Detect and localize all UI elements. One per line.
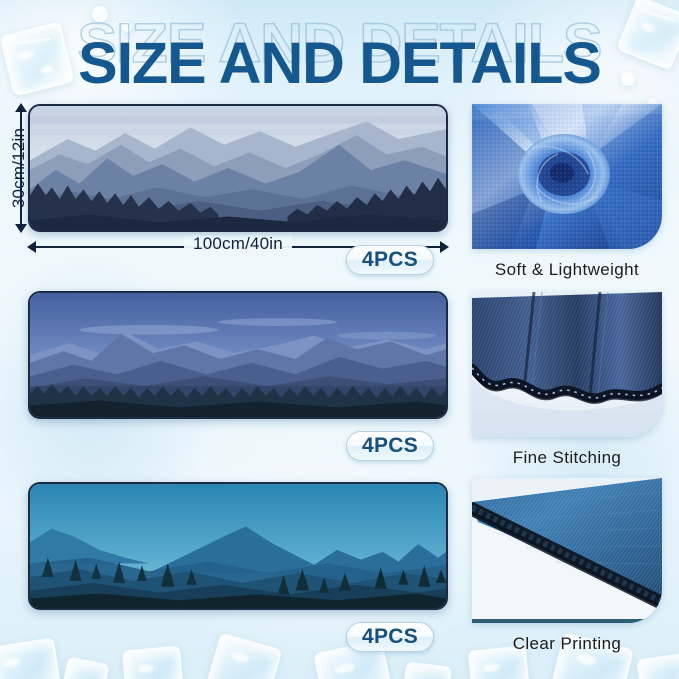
quantity-badge: 4PCS [346,622,434,652]
ice-cube-icon [0,637,62,679]
feature-clear-printing[interactable]: Clear Printing [472,478,662,654]
ice-cube-icon [61,656,110,679]
feature-soft-lightweight[interactable]: Soft & Lightweight [472,104,662,280]
quantity-badge: 4PCS [346,431,434,461]
quantity-badge-label: 4PCS [362,248,418,272]
ice-cube-icon [122,646,184,679]
size-and-details-poster: SIZE AND DETAILS SIZE AND DETAILS [0,0,679,679]
height-dimension-label: 30cm/12in [9,103,29,233]
arrow-left-icon [27,241,36,253]
quantity-badge: 4PCS [346,245,434,275]
towel-artwork [30,293,446,417]
width-dimension-label: 100cm/40in [184,234,292,254]
feature-caption: Clear Printing [472,634,662,654]
feature-image-underline [472,621,662,623]
ice-cube-icon [636,653,679,679]
quantity-badge-label: 4PCS [362,434,418,458]
towel-dusk-ridges[interactable] [28,291,448,419]
quantity-badge-label: 4PCS [362,625,418,649]
feature-caption: Soft & Lightweight [472,260,662,280]
page-title-text: SIZE AND DETAILS [0,30,679,97]
ice-cube-icon [402,661,452,679]
arrow-right-icon [440,241,449,253]
towel-layered-mountains[interactable] [28,104,448,232]
feature-image [472,292,662,437]
towel-artwork [30,484,446,608]
page-title: SIZE AND DETAILS SIZE AND DETAILS [0,8,679,98]
height-dimension: 30cm/12in [6,104,28,232]
towel-artwork [30,106,446,230]
ice-cube-icon [206,632,283,679]
feature-fine-stitching[interactable]: Fine Stitching [472,292,662,468]
feature-image [472,478,662,623]
feature-image [472,104,662,249]
feature-caption: Fine Stitching [472,448,662,468]
towel-teal-hills[interactable] [28,482,448,610]
